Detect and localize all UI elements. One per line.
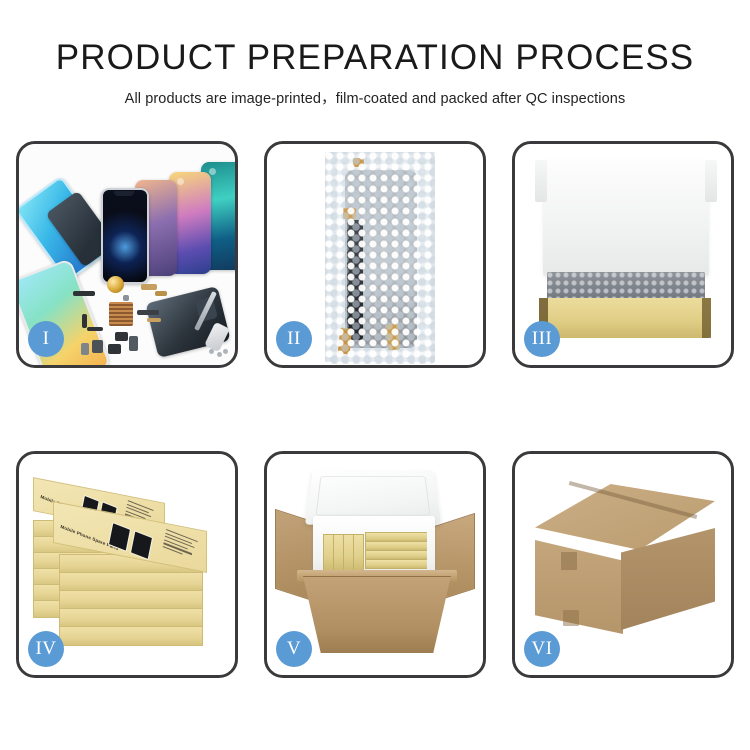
carton-tape-mark <box>563 610 579 626</box>
box-label-lines <box>162 529 199 562</box>
tape-icon <box>386 324 400 351</box>
process-panel-4: Mobile Phone Spare Parts <box>16 451 238 678</box>
panel-badge-2: II <box>276 321 312 357</box>
stacked-box <box>59 572 203 592</box>
process-panel-2: II <box>264 141 486 368</box>
kraft-box-base-icon <box>539 298 711 338</box>
foam-sheet-icon <box>543 160 709 276</box>
part-icon <box>155 291 167 296</box>
part-icon <box>115 332 128 341</box>
part-icon <box>82 314 87 328</box>
page-title: PRODUCT PREPARATION PROCESS <box>0 38 750 78</box>
black-screen-glass-icon <box>101 188 149 284</box>
copper-chip-icon <box>109 302 133 326</box>
part-icon <box>81 343 89 355</box>
carton-tape-mark <box>561 552 577 570</box>
stacked-box <box>59 626 203 646</box>
carton-body-icon <box>303 576 451 653</box>
process-panel-1: I <box>16 141 238 368</box>
part-icon <box>92 340 103 353</box>
gold-component-icon <box>107 276 124 293</box>
carton-front-face <box>535 540 623 634</box>
panel-badge-4: IV <box>28 631 64 667</box>
panel-badge-3: III <box>524 321 560 357</box>
part-icon <box>129 336 138 351</box>
panel-badge-6: VI <box>524 631 560 667</box>
part-icon <box>73 291 95 296</box>
stacked-box <box>59 590 203 610</box>
bubble-wrap-bag-icon <box>325 152 435 364</box>
page-subtitle: All products are image-printed，film-coat… <box>0 89 750 109</box>
stacked-box <box>59 608 203 628</box>
part-icon <box>123 295 129 301</box>
tape-icon <box>343 208 356 219</box>
process-panel-3: III <box>512 141 734 368</box>
process-panel-grid: I II <box>16 141 734 678</box>
yellow-box <box>365 559 427 569</box>
panel-badge-5: V <box>276 631 312 667</box>
header: PRODUCT PREPARATION PROCESS All products… <box>0 38 750 109</box>
tape-icon <box>353 158 364 167</box>
tape-icon <box>338 327 353 354</box>
flex-cable-icon <box>347 220 363 340</box>
box-label-phone-image <box>130 530 153 560</box>
product-preparation-page: PRODUCT PREPARATION PROCESS All products… <box>0 0 750 750</box>
part-icon <box>108 344 121 354</box>
part-icon <box>87 327 103 331</box>
part-icon <box>147 318 161 322</box>
part-icon <box>137 310 159 315</box>
process-panel-6: VI <box>512 451 734 678</box>
process-panel-5: V <box>264 451 486 678</box>
part-icon <box>141 284 157 290</box>
yellow-boxes-group <box>323 532 427 572</box>
panel-badge-1: I <box>28 321 64 357</box>
yellow-box <box>353 534 364 572</box>
screws-icon <box>209 349 227 357</box>
